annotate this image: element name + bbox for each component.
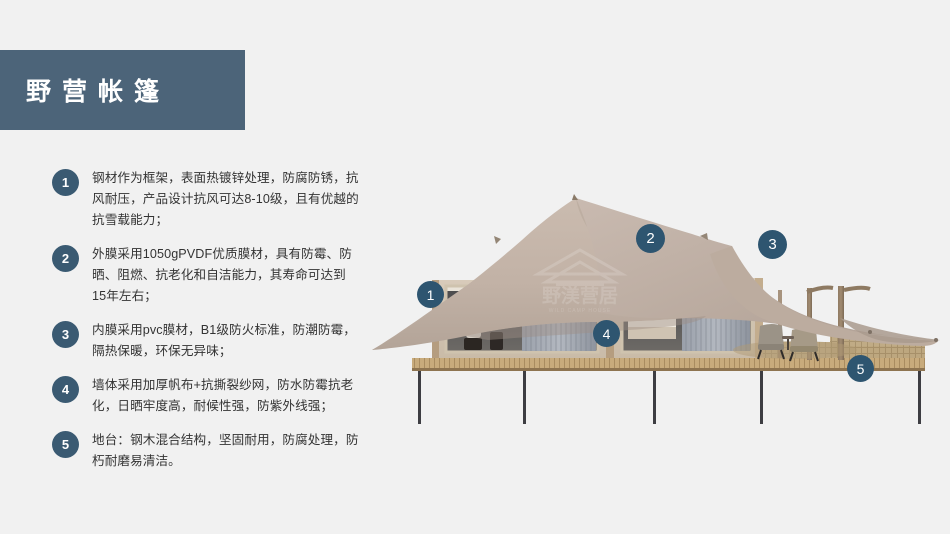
image-marker-4[interactable]: 4	[593, 320, 620, 347]
image-marker-1[interactable]: 1	[417, 281, 444, 308]
svg-text:WILD CAMP HOUSE: WILD CAMP HOUSE	[549, 308, 611, 314]
feature-description: 外膜采用1050gPVDF优质膜材，具有防霉、防晒、阻燃、抗老化和自洁能力，其寿…	[92, 244, 360, 307]
title-banner: 野营帐篷	[0, 50, 245, 130]
list-item: 5 地台：钢木混合结构，坚固耐用，防腐处理，防朽耐磨易清洁。	[52, 430, 372, 472]
image-marker-5[interactable]: 5	[847, 355, 874, 382]
tent-canopy-group	[372, 194, 940, 350]
feature-list: 1 钢材作为框架，表面热镀锌处理，防腐防锈，抗风耐压，产品设计抗风可达8-10级…	[52, 168, 372, 485]
feature-number-badge: 2	[52, 245, 79, 272]
feature-number-badge: 1	[52, 169, 79, 196]
feature-number-badge: 4	[52, 376, 79, 403]
tent-product-image: 野渼营居 WILD CAMP HOUSE	[370, 150, 945, 450]
list-item: 3 内膜采用pvc膜材，B1级防火标准，防潮防霉，隔热保暖，环保无异味；	[52, 320, 372, 362]
slide-canvas: 野营帐篷 1 钢材作为框架，表面热镀锌处理，防腐防锈，抗风耐压，产品设计抗风可达…	[0, 0, 950, 534]
feature-description: 钢材作为框架，表面热镀锌处理，防腐防锈，抗风耐压，产品设计抗风可达8-10级，且…	[92, 168, 360, 231]
page-title: 野营帐篷	[0, 72, 170, 108]
feature-number-badge: 5	[52, 431, 79, 458]
list-item: 1 钢材作为框架，表面热镀锌处理，防腐防锈，抗风耐压，产品设计抗风可达8-10级…	[52, 168, 372, 231]
feature-description: 地台：钢木混合结构，坚固耐用，防腐处理，防朽耐磨易清洁。	[92, 430, 360, 472]
feature-number-badge: 3	[52, 321, 79, 348]
image-marker-2[interactable]: 2	[636, 224, 665, 253]
list-item: 2 外膜采用1050gPVDF优质膜材，具有防霉、防晒、阻燃、抗老化和自洁能力，…	[52, 244, 372, 307]
image-marker-3[interactable]: 3	[758, 230, 787, 259]
feature-description: 内膜采用pvc膜材，B1级防火标准，防潮防霉，隔热保暖，环保无异味；	[92, 320, 360, 362]
svg-text:野渼营居: 野渼营居	[542, 284, 618, 307]
list-item: 4 墙体采用加厚帆布+抗撕裂纱网，防水防霉抗老化，日晒牢度高，耐候性强，防紫外线…	[52, 375, 372, 417]
feature-description: 墙体采用加厚帆布+抗撕裂纱网，防水防霉抗老化，日晒牢度高，耐候性强，防紫外线强；	[92, 375, 360, 417]
